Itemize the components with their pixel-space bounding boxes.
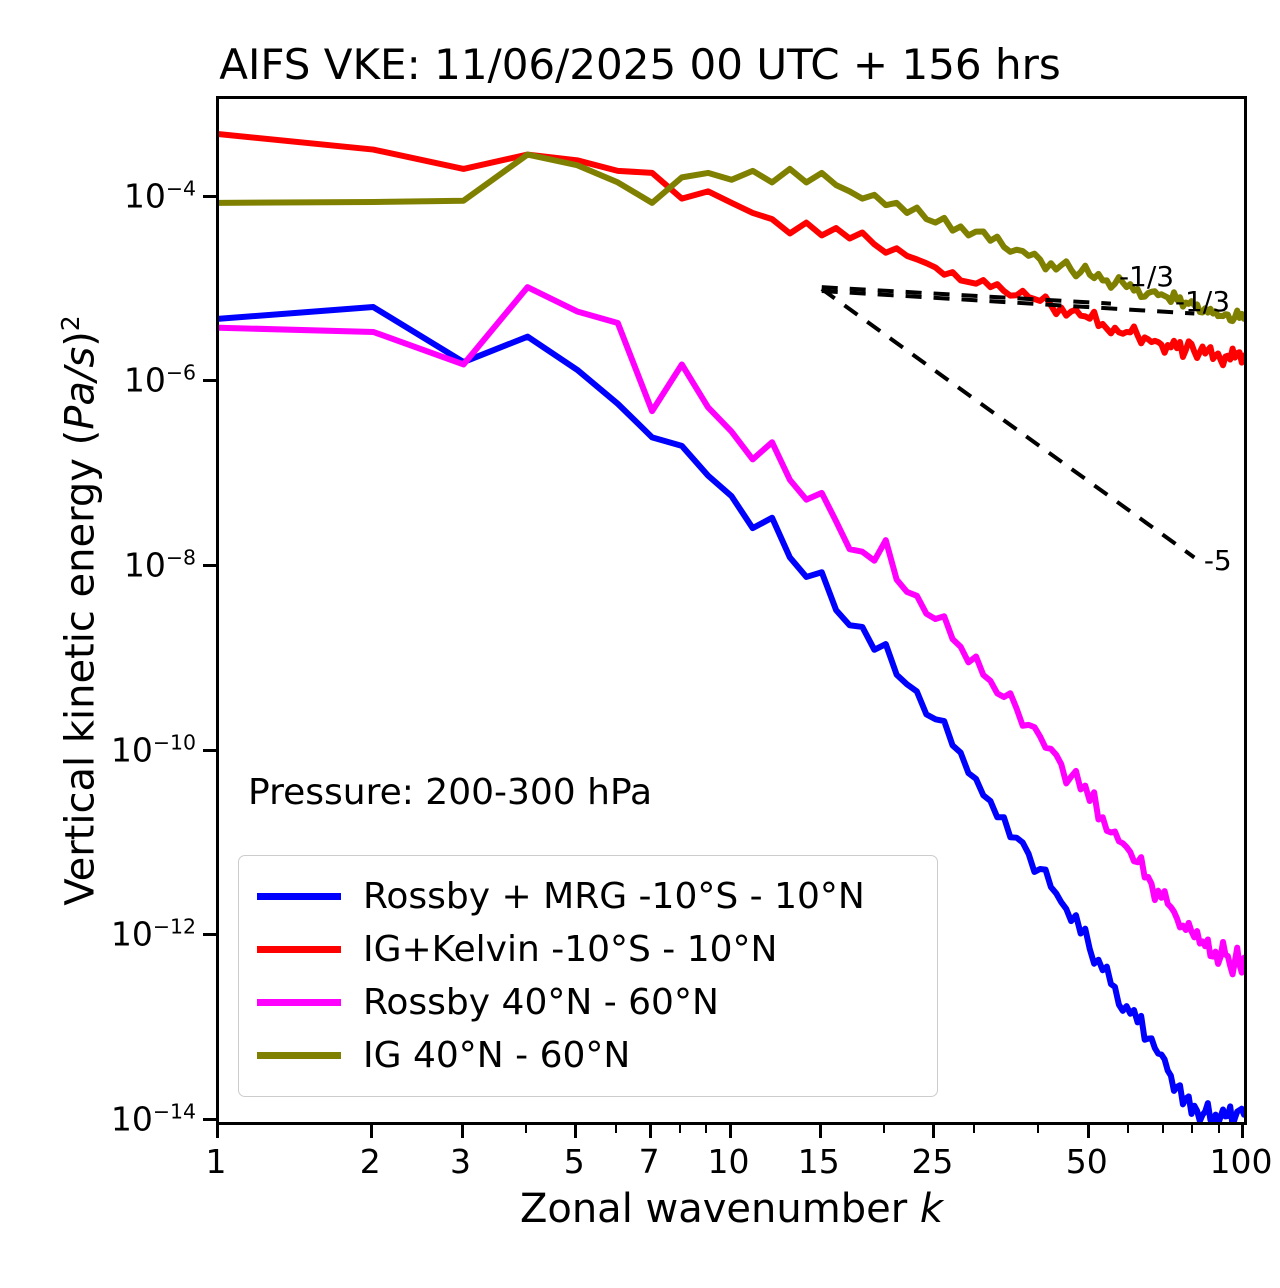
- x-tick-minor-mark: [883, 1125, 885, 1133]
- legend-color-swatch: [257, 946, 341, 953]
- reference-slope-line: [822, 289, 1195, 557]
- x-tick-label: 3: [450, 1142, 471, 1181]
- y-tick-mark: [203, 749, 216, 752]
- y-axis-tick-marks: [0, 96, 220, 1125]
- pressure-annotation: Pressure: 200-300 hPa: [248, 772, 652, 813]
- x-tick-mark: [370, 1125, 373, 1138]
- y-axis-label-tail: ): [57, 331, 103, 347]
- figure-canvas: AIFS VKE: 11/06/2025 00 UTC + 156 hrs 10…: [0, 0, 1280, 1288]
- series-line: [219, 155, 1244, 321]
- x-axis-label-text: Zonal wavenumber: [520, 1186, 920, 1232]
- x-tick-minor-mark: [615, 1125, 617, 1133]
- legend-color-swatch: [257, 999, 341, 1006]
- x-tick-label: 10: [708, 1142, 750, 1181]
- x-tick-label: 2: [360, 1142, 381, 1181]
- x-tick-mark: [461, 1125, 464, 1138]
- y-tick-mark: [203, 1118, 216, 1121]
- x-tick-minor-mark: [705, 1125, 707, 1133]
- x-tick-minor-mark: [1162, 1125, 1164, 1133]
- y-tick-mark: [203, 564, 216, 567]
- x-tick-minor-mark: [1218, 1125, 1220, 1133]
- x-tick-label: 7: [639, 1142, 660, 1181]
- x-tick-mark: [932, 1125, 935, 1138]
- x-axis-label: Zonal wavenumber k: [216, 1186, 1247, 1232]
- x-tick-mark: [649, 1125, 652, 1138]
- legend-item[interactable]: Rossby + MRG -10°S - 10°N: [257, 870, 919, 923]
- x-axis-ticks: 1235710152550100: [216, 1125, 1247, 1185]
- legend-item-label: IG+Kelvin -10°S - 10°N: [363, 929, 777, 970]
- page-title: AIFS VKE: 11/06/2025 00 UTC + 156 hrs: [0, 40, 1280, 89]
- y-axis-label-symbol: Pa/s: [57, 347, 103, 430]
- legend-item-label: IG 40°N - 60°N: [363, 1035, 630, 1076]
- x-tick-minor-mark: [1037, 1125, 1039, 1133]
- x-tick-minor-mark: [973, 1125, 975, 1133]
- legend-item[interactable]: IG 40°N - 60°N: [257, 1029, 919, 1082]
- legend-color-swatch: [257, 893, 341, 900]
- x-tick-label: 100: [1210, 1142, 1273, 1181]
- legend-item-label: Rossby 40°N - 60°N: [363, 982, 719, 1023]
- slope-annotation-label: -1/3: [1175, 285, 1230, 318]
- x-tick-mark: [1087, 1125, 1090, 1138]
- y-tick-mark: [203, 379, 216, 382]
- y-axis-label: Vertical kinetic energy (Pa/s)2: [56, 96, 103, 1125]
- legend-item-label: Rossby + MRG -10°S - 10°N: [363, 876, 865, 917]
- x-axis-label-symbol: k: [920, 1186, 943, 1232]
- x-tick-label: 5: [564, 1142, 585, 1181]
- x-tick-label: 25: [911, 1142, 953, 1181]
- x-tick-minor-mark: [1127, 1125, 1129, 1133]
- x-tick-minor-mark: [679, 1125, 681, 1133]
- x-tick-label: 50: [1066, 1142, 1108, 1181]
- x-tick-label: 15: [798, 1142, 840, 1181]
- y-axis-label-text: Vertical kinetic energy (: [57, 430, 103, 906]
- x-tick-minor-mark: [525, 1125, 527, 1133]
- x-tick-minor-mark: [1191, 1125, 1193, 1133]
- y-axis-label-exponent: 2: [56, 315, 85, 331]
- legend-item[interactable]: IG+Kelvin -10°S - 10°N: [257, 923, 919, 976]
- legend: Rossby + MRG -10°S - 10°NIG+Kelvin -10°S…: [238, 855, 938, 1097]
- legend-item[interactable]: Rossby 40°N - 60°N: [257, 976, 919, 1029]
- x-tick-label: 1: [206, 1142, 227, 1181]
- y-tick-mark: [203, 195, 216, 198]
- x-tick-mark: [819, 1125, 822, 1138]
- x-tick-mark: [216, 1125, 219, 1138]
- x-tick-mark: [1241, 1125, 1244, 1138]
- slope-annotation-label: -5: [1204, 544, 1232, 577]
- slope-annotation-label: -1/3: [1119, 260, 1174, 293]
- legend-color-swatch: [257, 1052, 341, 1059]
- x-tick-mark: [574, 1125, 577, 1138]
- y-tick-mark: [203, 933, 216, 936]
- x-tick-mark: [729, 1125, 732, 1138]
